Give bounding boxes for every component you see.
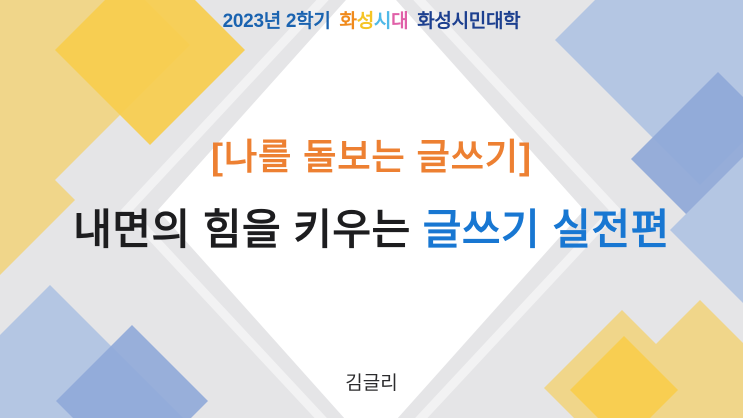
- subtitle-dark-part: 내면의 힘을 키우는: [73, 206, 410, 253]
- header-line: 2023년 2학기화성시대화성시민대학: [0, 12, 743, 31]
- author-name: 김글리: [0, 368, 743, 395]
- header-institution: 화성시민대학: [417, 11, 520, 32]
- poster-canvas: 2023년 2학기화성시대화성시민대학 [나를 돌보는 글쓰기] 내면의 힘을 …: [0, 0, 743, 418]
- page-title: [나를 돌보는 글쓰기]: [0, 136, 743, 177]
- header-brand-char-1: 화: [340, 11, 357, 32]
- page-subtitle: 내면의 힘을 키우는글쓰기 실전편: [0, 206, 743, 254]
- header-term: 2023년 2학기: [223, 11, 331, 32]
- header-brand-char-2: 성: [357, 11, 374, 32]
- header-brand-char-3: 시: [374, 11, 391, 32]
- header-brand-char-4: 대: [391, 11, 408, 32]
- subtitle-accent-part: 글쓰기 실전편: [423, 206, 670, 253]
